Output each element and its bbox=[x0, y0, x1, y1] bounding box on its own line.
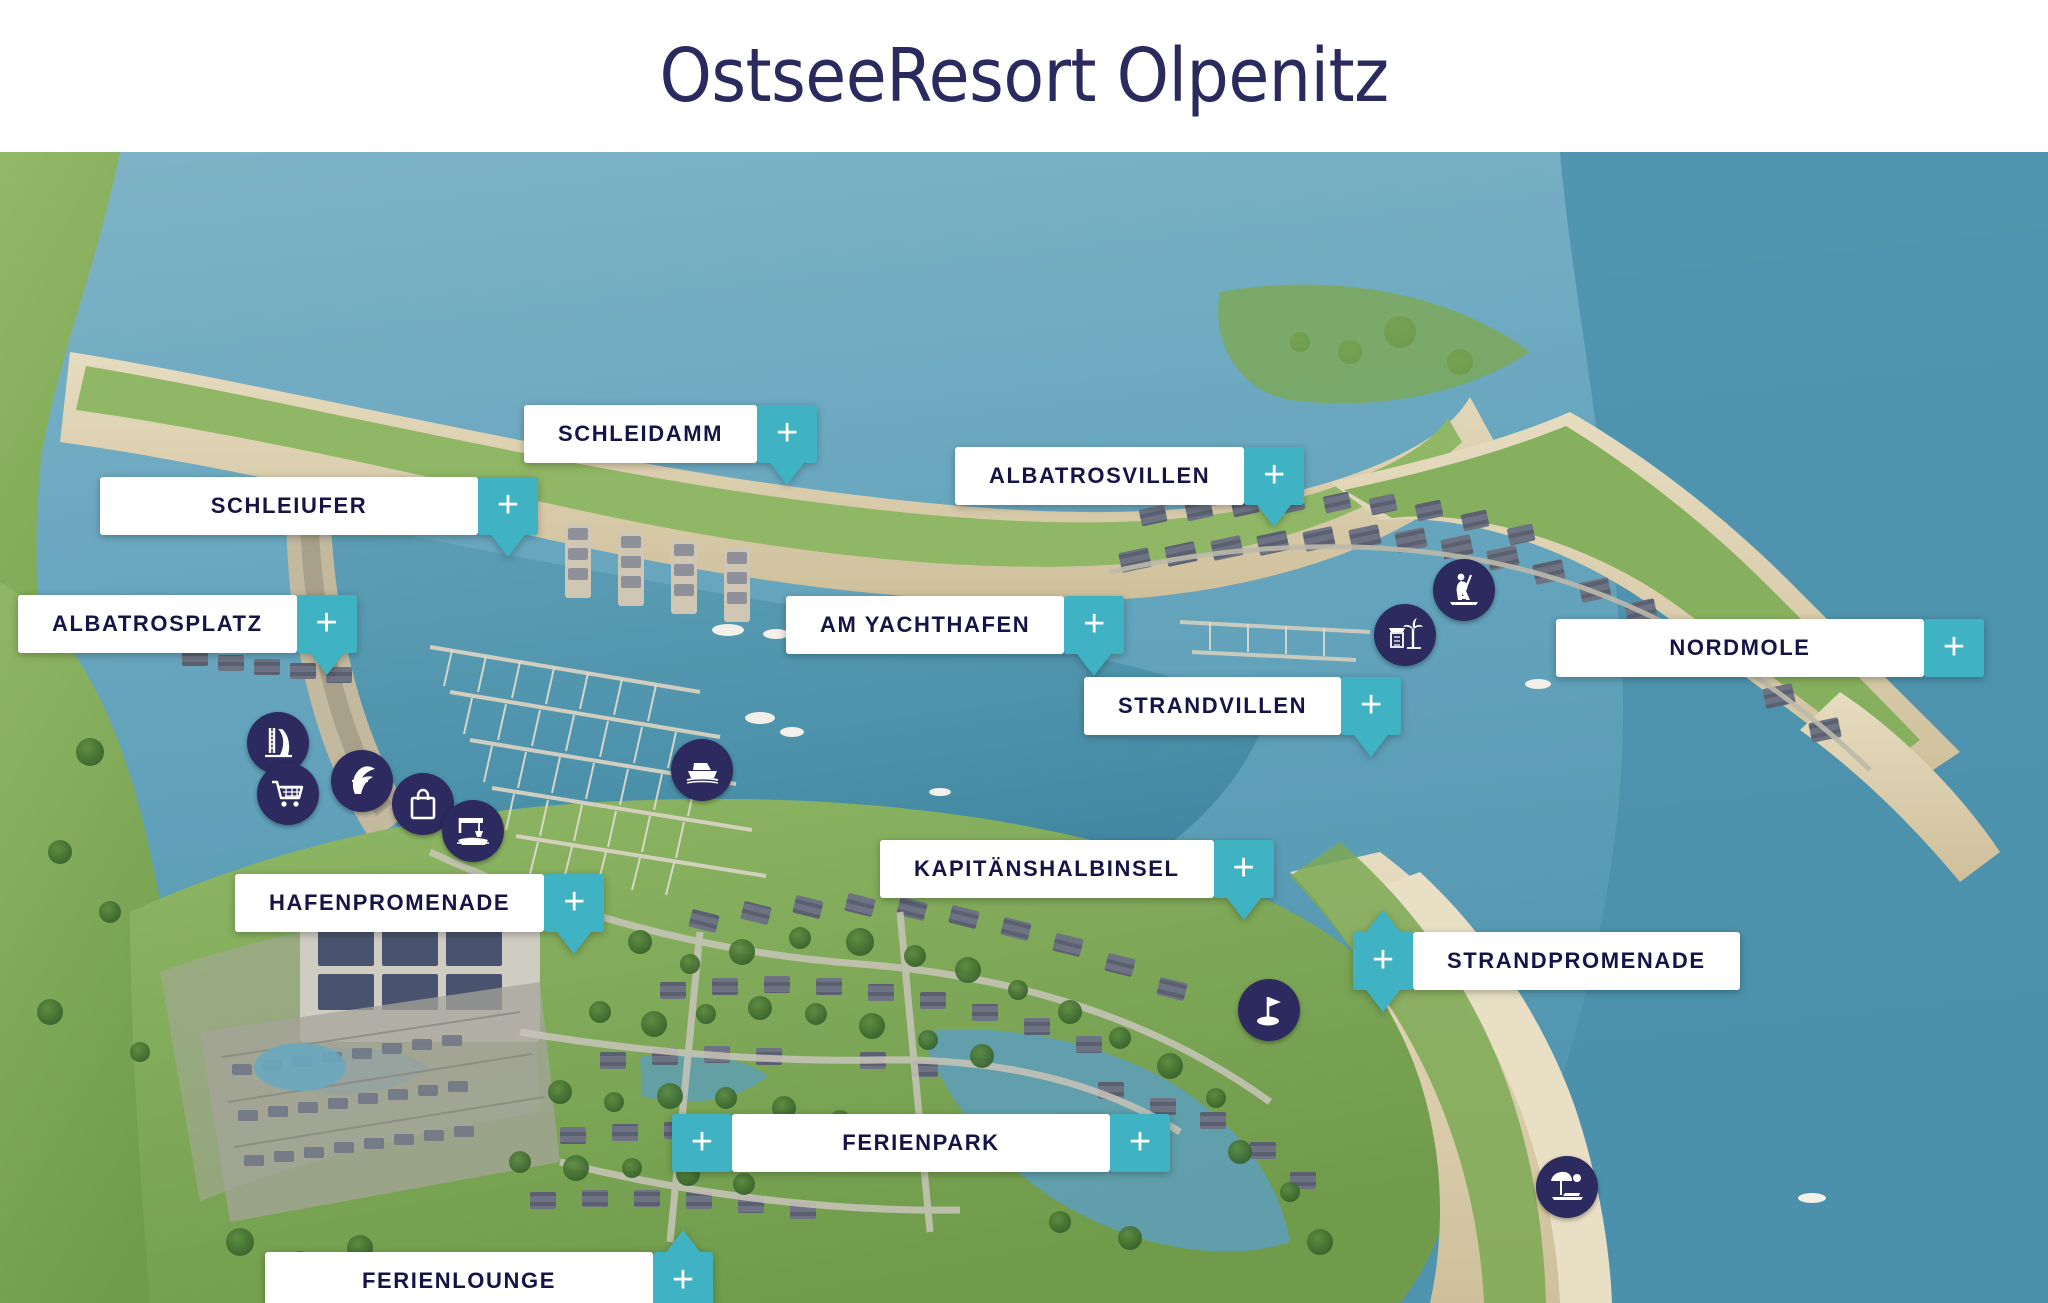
water-slide-glyph bbox=[258, 723, 298, 763]
hotspot-nordmole[interactable]: NORDMOLE + bbox=[1556, 619, 1984, 677]
expand-button-ferienpark-right[interactable]: + bbox=[1110, 1114, 1170, 1172]
hotspot-albatrosvillen[interactable]: ALBATROSVILLEN + bbox=[955, 447, 1304, 505]
hotspot-hafenpromenade[interactable]: HAFENPROMENADE + bbox=[235, 874, 604, 932]
expand-button-strandpromenade[interactable]: + bbox=[1353, 932, 1413, 990]
hotspot-label-albatrosvillen: ALBATROSVILLEN bbox=[955, 447, 1244, 505]
expand-button-kapitaenshalbinsel[interactable]: + bbox=[1214, 840, 1274, 898]
expand-button-ferienpark-left[interactable]: + bbox=[672, 1114, 732, 1172]
boat-crane-glyph bbox=[453, 811, 493, 851]
expand-button-nordmole[interactable]: + bbox=[1924, 619, 1984, 677]
paddleboard-icon[interactable] bbox=[1433, 559, 1495, 621]
motorboat-icon[interactable] bbox=[671, 739, 733, 801]
title-bar: OstseeResort Olpenitz bbox=[0, 0, 2048, 152]
market-palm-glyph bbox=[1385, 615, 1425, 655]
hotspot-schleiufer[interactable]: SCHLEIUFER + bbox=[100, 477, 538, 535]
hotspot-albatrosplatz[interactable]: ALBATROSPLATZ + bbox=[18, 595, 357, 653]
hotspot-ferienpark[interactable]: + FERIENPARK + bbox=[672, 1114, 1170, 1172]
hotspot-strandvillen[interactable]: STRANDVILLEN + bbox=[1084, 677, 1401, 735]
hotspot-label-strandpromenade: STRANDPROMENADE bbox=[1413, 932, 1740, 990]
resort-aerial-map[interactable]: SCHLEIDAMM + ALBATROSVILLEN + SCHLEIUFER… bbox=[0, 152, 2048, 1303]
expand-button-hafenpromenade[interactable]: + bbox=[544, 874, 604, 932]
beach-umbrella-glyph bbox=[1547, 1167, 1587, 1207]
surf-flag-glyph bbox=[342, 761, 382, 801]
hotspot-label-am-yachthafen: AM YACHTHAFEN bbox=[786, 596, 1064, 654]
shopping-cart-icon[interactable] bbox=[257, 763, 319, 825]
hotspot-schleidamm[interactable]: SCHLEIDAMM + bbox=[524, 405, 817, 463]
hotspot-label-kapitaenshalbinsel: KAPITÄNSHALBINSEL bbox=[880, 840, 1214, 898]
expand-button-ferienlounge[interactable]: + bbox=[653, 1252, 713, 1303]
hotspot-label-albatrosplatz: ALBATROSPLATZ bbox=[18, 595, 297, 653]
expand-button-strandvillen[interactable]: + bbox=[1341, 677, 1401, 735]
shopping-cart-glyph bbox=[268, 774, 308, 814]
shopping-bag-glyph bbox=[403, 784, 443, 824]
expand-button-albatrosplatz[interactable]: + bbox=[297, 595, 357, 653]
hotspot-label-schleidamm: SCHLEIDAMM bbox=[524, 405, 757, 463]
hotspot-am-yachthafen[interactable]: AM YACHTHAFEN + bbox=[786, 596, 1124, 654]
hotspot-ferienlounge[interactable]: FERIENLOUNGE + bbox=[265, 1252, 713, 1303]
boat-crane-icon[interactable] bbox=[442, 800, 504, 862]
golf-flag-icon[interactable] bbox=[1238, 979, 1300, 1041]
page-title: OstseeResort Olpenitz bbox=[659, 33, 1388, 119]
hotspot-label-strandvillen: STRANDVILLEN bbox=[1084, 677, 1341, 735]
hotspot-label-schleiufer: SCHLEIUFER bbox=[100, 477, 478, 535]
surf-flag-icon[interactable] bbox=[331, 750, 393, 812]
expand-button-am-yachthafen[interactable]: + bbox=[1064, 596, 1124, 654]
paddleboard-glyph bbox=[1444, 570, 1484, 610]
hotspot-label-hafenpromenade: HAFENPROMENADE bbox=[235, 874, 544, 932]
expand-button-albatrosvillen[interactable]: + bbox=[1244, 447, 1304, 505]
hotspot-strandpromenade[interactable]: + STRANDPROMENADE bbox=[1353, 932, 1740, 990]
motorboat-glyph bbox=[682, 750, 722, 790]
market-palm-icon[interactable] bbox=[1374, 604, 1436, 666]
hotspot-label-ferienlounge: FERIENLOUNGE bbox=[265, 1252, 653, 1303]
hotspot-label-nordmole: NORDMOLE bbox=[1556, 619, 1924, 677]
golf-flag-glyph bbox=[1249, 990, 1289, 1030]
hotspot-kapitaenshalbinsel[interactable]: KAPITÄNSHALBINSEL + bbox=[880, 840, 1274, 898]
expand-button-schleiufer[interactable]: + bbox=[478, 477, 538, 535]
expand-button-schleidamm[interactable]: + bbox=[757, 405, 817, 463]
beach-umbrella-icon[interactable] bbox=[1536, 1156, 1598, 1218]
hotspot-label-ferienpark: FERIENPARK bbox=[732, 1114, 1110, 1172]
